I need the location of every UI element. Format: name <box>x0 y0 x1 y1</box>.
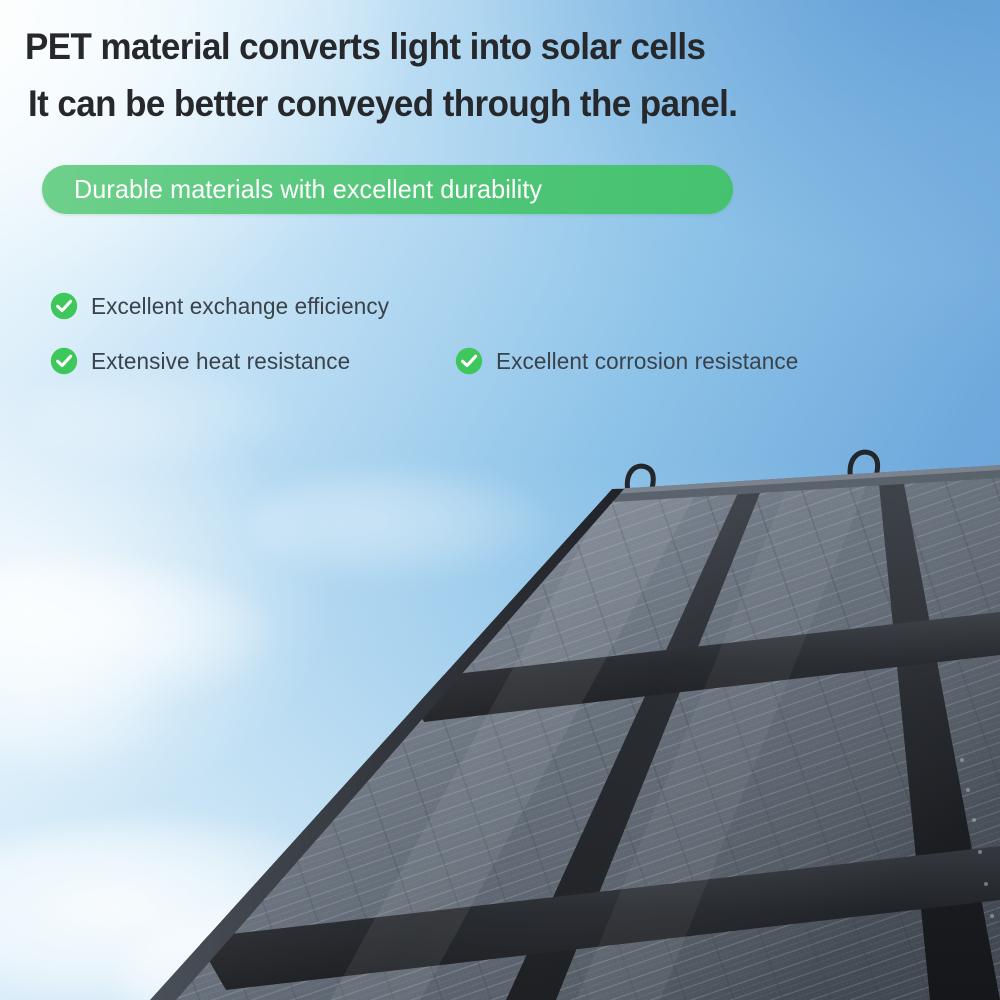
headline-line-2: It can be better conveyed through the pa… <box>28 83 737 125</box>
durability-banner-label: Durable materials with excellent durabil… <box>74 174 542 205</box>
sky-haze-bottom <box>0 460 1000 1000</box>
check-circle-icon <box>50 347 78 375</box>
marketing-banner-page: PET material converts light into solar c… <box>0 0 1000 1000</box>
feature-item-exchange-efficiency: Excellent exchange efficiency <box>50 292 395 320</box>
feature-item-heat-resistance: Extensive heat resistance <box>50 347 356 375</box>
feature-label: Excellent exchange efficiency <box>91 293 389 320</box>
check-circle-icon <box>50 292 78 320</box>
feature-label: Excellent corrosion resistance <box>496 348 798 375</box>
headline-line-1: PET material converts light into solar c… <box>25 26 705 68</box>
durability-banner: Durable materials with excellent durabil… <box>42 165 733 214</box>
feature-label: Extensive heat resistance <box>91 348 350 375</box>
check-circle-icon <box>455 347 483 375</box>
feature-item-corrosion-resistance: Excellent corrosion resistance <box>455 347 805 375</box>
